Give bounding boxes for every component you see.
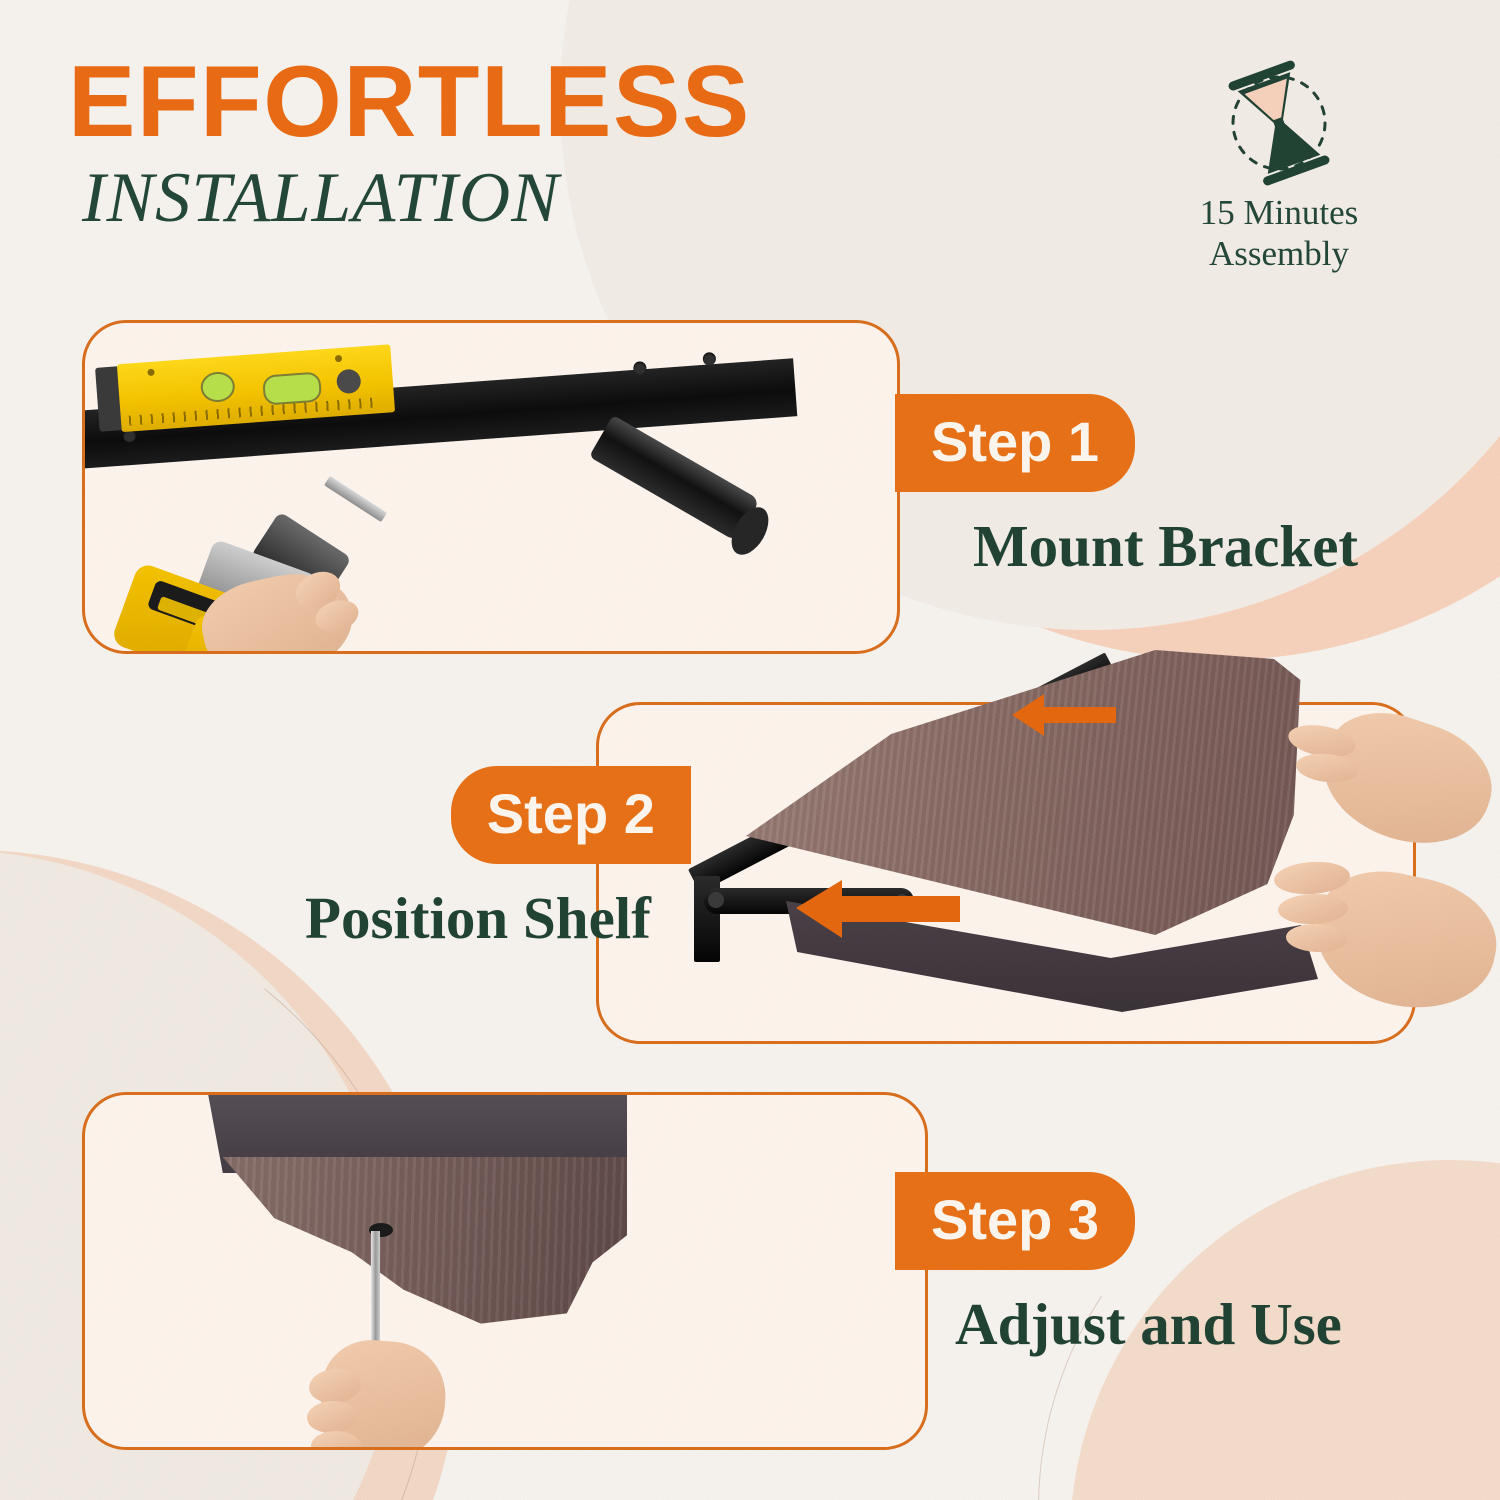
assembly-time-line1: 15 Minutes (1154, 192, 1404, 233)
page-header: EFFORTLESS INSTALLATION (68, 52, 751, 236)
step-2-title: Position Shelf (305, 884, 651, 953)
step-1-title: Mount Bracket (973, 512, 1358, 581)
step-3-image-card (82, 1092, 928, 1450)
step-1-label-group: Step 1 Mount Bracket (895, 394, 1358, 581)
step-1-illustration (85, 323, 897, 651)
step-3-badge: Step 3 (895, 1172, 1135, 1270)
step-2-label-group: Step 2 Position Shelf (305, 766, 691, 953)
step-1-image-card (82, 320, 900, 654)
step-3-title: Adjust and Use (955, 1290, 1342, 1359)
step-2-badge: Step 2 (451, 766, 691, 864)
hand (305, 1335, 465, 1450)
assembly-time-label: 15 Minutes Assembly (1154, 192, 1404, 275)
step-3-illustration (85, 1095, 925, 1447)
step-1-badge: Step 1 (895, 394, 1135, 492)
page-title: EFFORTLESS (68, 52, 751, 153)
hourglass-icon (1154, 58, 1404, 188)
page-subtitle: INSTALLATION (82, 161, 751, 236)
black-support-rod (589, 415, 760, 542)
assembly-time-badge: 15 Minutes Assembly (1154, 58, 1404, 275)
step-2-image-card (596, 702, 1416, 1044)
assembly-time-line2: Assembly (1154, 233, 1404, 274)
hand (203, 567, 373, 654)
step-3-label-group: Step 3 Adjust and Use (895, 1172, 1342, 1359)
